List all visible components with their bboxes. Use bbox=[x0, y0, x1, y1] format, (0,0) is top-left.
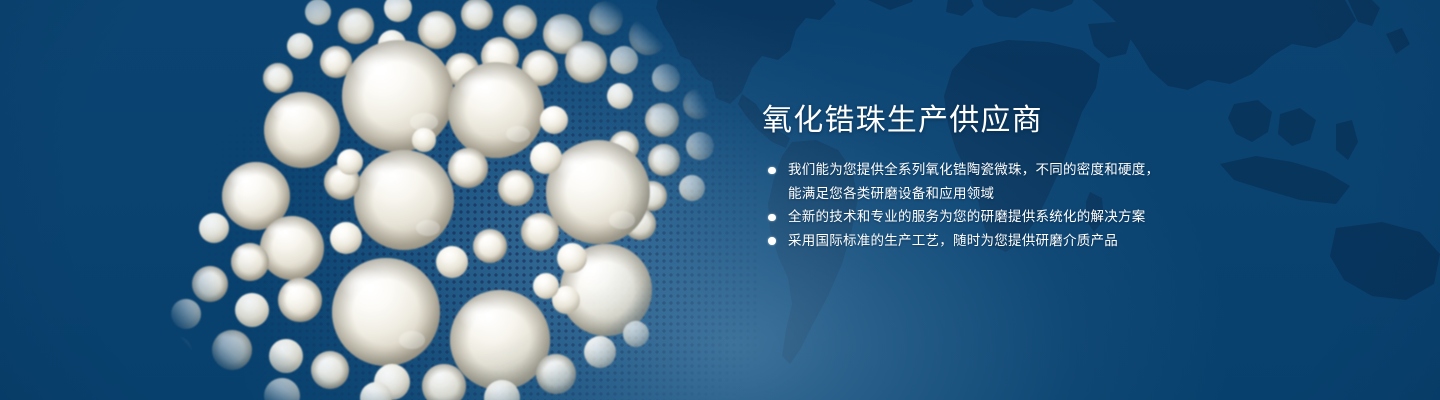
bullet-item-2-line1: 全新的技术和专业的服务为您的研磨提供系统化的解决方案 bbox=[788, 209, 1146, 224]
bullet-item-1: 我们能为您提供全系列氧化锆陶瓷微珠，不同的密度和硬度， 能满足您各类研磨设备和应… bbox=[762, 158, 1232, 205]
bullet-item-3-line1: 采用国际标准的生产工艺，随时为您提供研磨介质产品 bbox=[788, 233, 1118, 248]
banner-headline: 氧化锆珠生产供应商 bbox=[762, 104, 1232, 138]
bullet-dot-icon bbox=[768, 237, 776, 245]
banner-copy: 氧化锆珠生产供应商 我们能为您提供全系列氧化锆陶瓷微珠，不同的密度和硬度， 能满… bbox=[762, 104, 1232, 252]
bullet-item-2: 全新的技术和专业的服务为您的研磨提供系统化的解决方案 bbox=[762, 205, 1232, 229]
bullet-dot-icon bbox=[768, 214, 776, 222]
bullet-item-1-line2: 能满足您各类研磨设备和应用领域 bbox=[788, 182, 1232, 206]
hero-banner: 氧化锆珠生产供应商 我们能为您提供全系列氧化锆陶瓷微珠，不同的密度和硬度， 能满… bbox=[0, 0, 1440, 400]
banner-bullet-list: 我们能为您提供全系列氧化锆陶瓷微珠，不同的密度和硬度， 能满足您各类研磨设备和应… bbox=[762, 158, 1232, 252]
bullet-item-1-line1: 我们能为您提供全系列氧化锆陶瓷微珠，不同的密度和硬度， bbox=[788, 162, 1159, 177]
bullet-dot-icon bbox=[768, 167, 776, 175]
bullet-item-3: 采用国际标准的生产工艺，随时为您提供研磨介质产品 bbox=[762, 229, 1232, 253]
